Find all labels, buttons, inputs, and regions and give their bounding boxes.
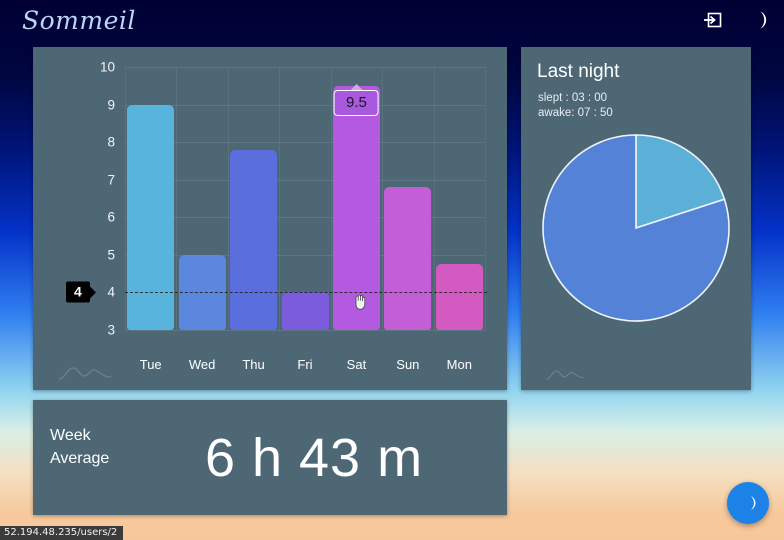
y-axis-tick-label: 6 (89, 210, 115, 225)
bar-value-tooltip: 9.5 (334, 90, 379, 116)
week-average-value: 6 h 43 m (33, 400, 507, 515)
login-arrow-icon[interactable] (702, 9, 724, 31)
chart-bar-fri[interactable] (282, 292, 329, 330)
x-axis-tick-label: Mon (447, 357, 472, 372)
sleep-pie-chart (540, 132, 732, 324)
app-title: Sommeil (22, 6, 136, 35)
moon-icon (739, 494, 757, 512)
chart-bar-mon[interactable] (436, 264, 483, 330)
chart-bar-thu[interactable] (230, 150, 277, 330)
slept-label: slept : (538, 92, 569, 104)
slept-value: 03 : 00 (572, 92, 607, 104)
y-axis-tick-label: 3 (89, 323, 115, 338)
threshold-line (125, 292, 487, 293)
awake-label: awake: (538, 107, 574, 119)
y-axis-tick-label: 7 (89, 172, 115, 187)
mouse-cursor (354, 294, 368, 310)
x-axis-tick-label: Sat (347, 357, 367, 372)
week-average-panel: Week Average 6 h 43 m (33, 400, 507, 515)
y-axis-tick-label: 9 (89, 97, 115, 112)
x-axis-tick-label: Tue (140, 357, 162, 372)
chart-plot-area (125, 67, 485, 330)
last-night-stats: slept : 03 : 00 awake: 07 : 50 (538, 91, 613, 121)
chart-bar-sun[interactable] (384, 187, 431, 330)
y-axis-tick-label: 5 (89, 247, 115, 262)
gridline (485, 67, 486, 330)
mountain-decoration (57, 364, 113, 380)
slept-row: slept : 03 : 00 (538, 91, 613, 106)
add-sleep-fab[interactable] (727, 482, 769, 524)
threshold-marker[interactable]: 4 (66, 282, 90, 303)
awake-row: awake: 07 : 50 (538, 106, 613, 121)
mountain-decoration (545, 368, 585, 380)
status-bar-url: 52.194.48.235/users/2 (0, 526, 123, 540)
x-axis-tick-label: Wed (189, 357, 216, 372)
moon-icon[interactable] (746, 9, 768, 31)
app-header: Sommeil (0, 0, 784, 40)
awake-value: 07 : 50 (578, 107, 613, 119)
y-axis-tick-label: 8 (89, 135, 115, 150)
x-axis-tick-label: Sun (396, 357, 419, 372)
x-axis-tick-label: Thu (242, 357, 264, 372)
gridline (125, 330, 485, 331)
x-axis-tick-label: Fri (297, 357, 312, 372)
header-actions (702, 9, 768, 31)
chart-bars (125, 67, 485, 330)
last-night-title: Last night (537, 61, 619, 83)
chart-bar-tue[interactable] (127, 105, 174, 330)
last-night-panel: Last night slept : 03 : 00 awake: 07 : 5… (521, 47, 751, 390)
weekly-sleep-chart-panel: 109876543 TueWedThuFriSatSunMon 4 9.5 (33, 47, 507, 390)
y-axis-tick-label: 10 (89, 60, 115, 75)
